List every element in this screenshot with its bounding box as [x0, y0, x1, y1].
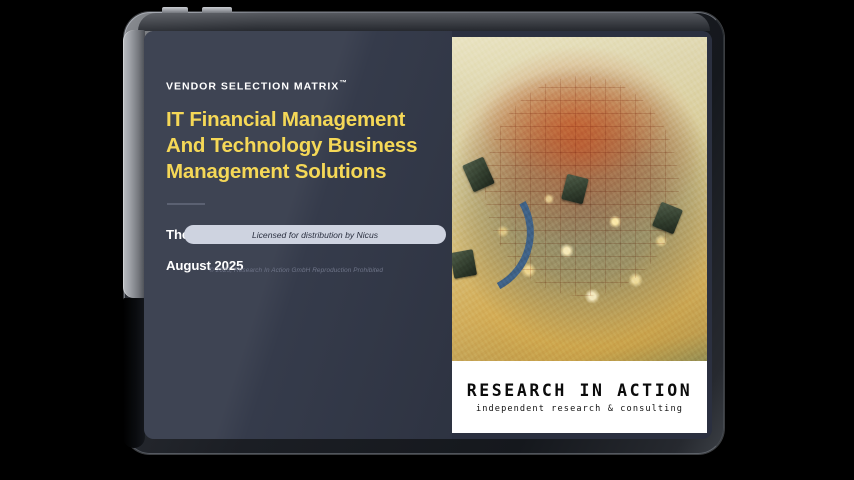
trademark-symbol: ™	[339, 78, 347, 87]
tablet-top-bezel-strip	[138, 13, 710, 31]
report-series-text: VENDOR SELECTION MATRIX	[166, 81, 339, 93]
volume-down-button[interactable]	[202, 7, 232, 13]
cover-title-panel: VENDOR SELECTION MATRIX™ IT Financial Ma…	[144, 31, 452, 439]
publisher-logo-name: RESEARCH IN ACTION	[467, 381, 693, 400]
image-grain-overlay	[452, 37, 707, 361]
volume-up-button[interactable]	[162, 7, 188, 13]
tablet-left-edge	[123, 30, 145, 298]
report-series-label: VENDOR SELECTION MATRIX™	[166, 78, 452, 93]
tablet-left-edge-shadow	[123, 298, 145, 448]
publisher-logo-tagline: independent research & consulting	[476, 404, 683, 414]
page-title: IT Financial Management And Technology B…	[166, 107, 436, 186]
cover-artwork-panel: RESEARCH IN ACTION independent research …	[452, 31, 712, 439]
screenshot-stage: VENDOR SELECTION MATRIX™ IT Financial Ma…	[0, 0, 854, 480]
title-divider	[167, 203, 205, 205]
network-sphere-image	[452, 37, 707, 361]
license-badge-label: Licensed for distribution by Nicus	[252, 230, 378, 240]
copyright-notice: © 2025, Research In Action GmbH Reproduc…	[209, 267, 452, 274]
license-badge: Licensed for distribution by Nicus	[184, 225, 446, 244]
tablet-screen[interactable]: VENDOR SELECTION MATRIX™ IT Financial Ma…	[144, 31, 712, 439]
publisher-logo: RESEARCH IN ACTION independent research …	[452, 361, 707, 433]
tablet-device: VENDOR SELECTION MATRIX™ IT Financial Ma…	[124, 12, 724, 454]
